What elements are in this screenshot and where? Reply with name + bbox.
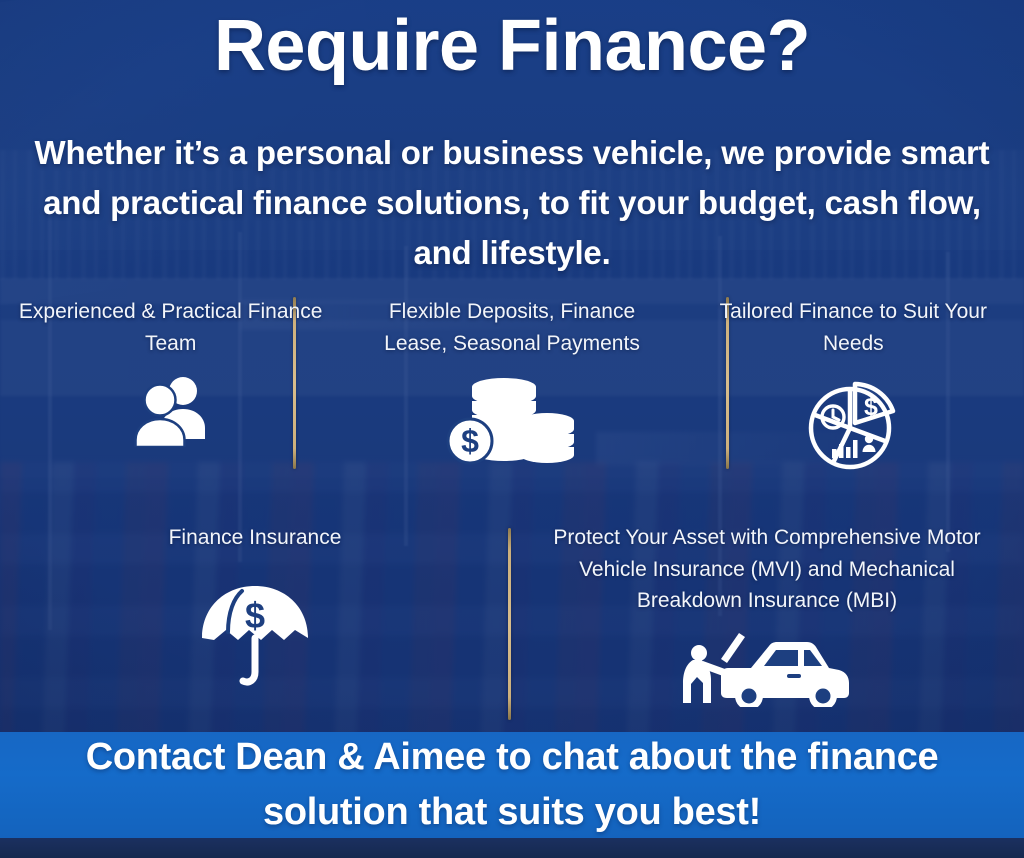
- people-icon: [129, 375, 213, 447]
- svg-text:$: $: [245, 595, 265, 636]
- subtitle-text: Whether it’s a personal or business vehi…: [14, 128, 1010, 278]
- feature-asset-protection: Protect Your Asset with Comprehensive Mo…: [510, 522, 1024, 722]
- poster-content: Require Finance? Whether it’s a personal…: [0, 0, 1024, 858]
- finance-promo-poster: Require Finance? Whether it’s a personal…: [0, 0, 1024, 858]
- cta-banner[interactable]: Contact Dean & Aimee to chat about the f…: [0, 732, 1024, 838]
- mechanic-car-icon: [677, 631, 857, 707]
- page-title: Require Finance?: [0, 6, 1024, 87]
- feature-finance-insurance: Finance Insurance $: [0, 522, 510, 722]
- feature-label: Finance Insurance: [169, 522, 342, 554]
- feature-flexible-deposits: Flexible Deposits, Finance Lease, Season…: [341, 296, 682, 476]
- feature-label: Flexible Deposits, Finance Lease, Season…: [355, 296, 668, 359]
- feature-label: Tailored Finance to Suit Your Needs: [697, 296, 1010, 359]
- feature-label: Protect Your Asset with Comprehensive Mo…: [524, 522, 1010, 617]
- feature-label: Experienced & Practical Finance Team: [14, 296, 327, 359]
- features-bottom-row: Finance Insurance $ Protect Your A: [0, 522, 1024, 722]
- svg-text:$: $: [461, 423, 479, 459]
- umbrella-dollar-icon: $: [196, 580, 314, 690]
- features-top-row: Experienced & Practical Finance Team Fle…: [0, 296, 1024, 476]
- cta-text: Contact Dean & Aimee to chat about the f…: [0, 730, 1024, 840]
- bottom-strip: [0, 838, 1024, 858]
- coins-icon: $: [446, 375, 578, 471]
- feature-finance-team: Experienced & Practical Finance Team: [0, 296, 341, 476]
- feature-tailored-finance: Tailored Finance to Suit Your Needs: [683, 296, 1024, 476]
- svg-text:$: $: [864, 393, 878, 421]
- pie-chart-icon: $: [803, 375, 903, 475]
